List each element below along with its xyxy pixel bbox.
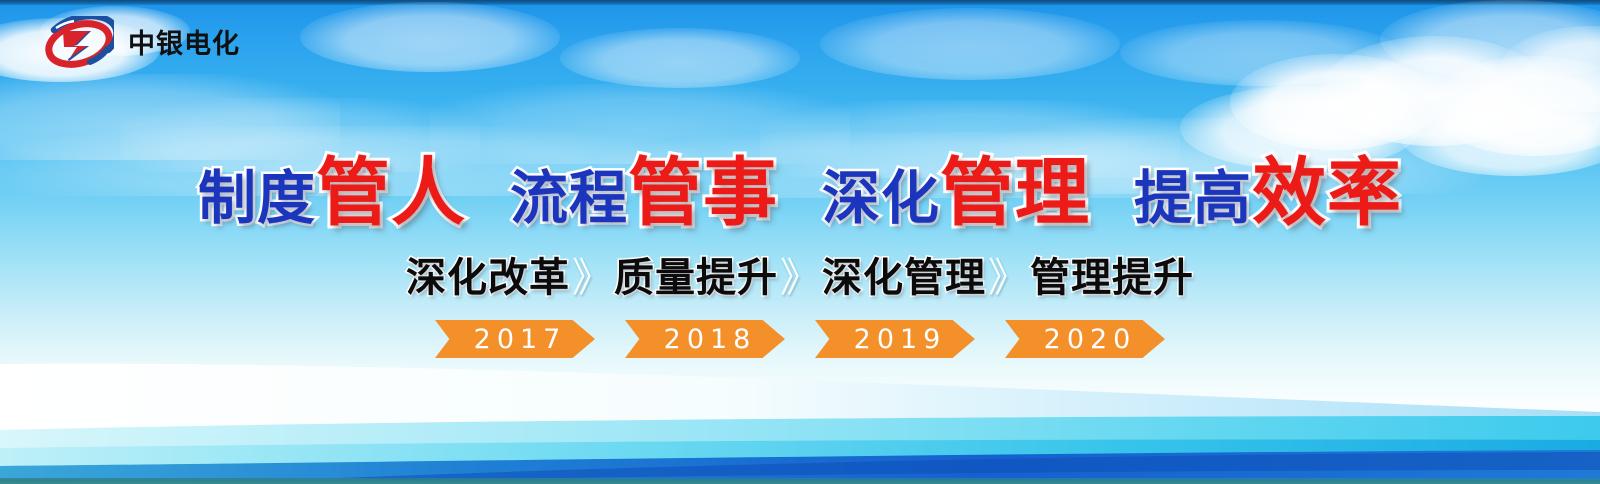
subtitle-item-1: 深化改革 <box>406 255 570 301</box>
headline-blue-3: 深化 <box>822 164 940 232</box>
headline-group-1: 制度管人 <box>198 156 466 230</box>
bottom-wave-graphic <box>0 354 1600 484</box>
chevron-separator-icon: 》 <box>988 255 1028 301</box>
year-label: 2017 <box>464 326 567 353</box>
headline-blue-4: 提高 <box>1134 164 1252 232</box>
headline-group-2: 流程管事 <box>510 156 778 230</box>
year-label: 2018 <box>654 326 757 353</box>
headline-red-3: 管理 <box>940 150 1090 236</box>
headline: 制度管人 流程管事 深化管理 提高效率 <box>0 156 1600 230</box>
headline-red-2: 管事 <box>628 150 778 236</box>
promotional-banner: 中银电化 制度管人 流程管事 深化管理 提高效率 深化改革》质量提升》深化管理》… <box>0 0 1600 484</box>
year-arrow-2019: 2019 <box>815 320 975 358</box>
subtitle-row: 深化改革》质量提升》深化管理》管理提升 <box>0 258 1600 298</box>
bottom-edge-line <box>0 480 1600 484</box>
subtitle-item-3: 深化管理 <box>822 255 986 301</box>
year-arrow-2018: 2018 <box>625 320 785 358</box>
chevron-separator-icon: 》 <box>780 255 820 301</box>
headline-group-3: 深化管理 <box>822 156 1090 230</box>
subtitle-item-4: 管理提升 <box>1030 255 1194 301</box>
headline-blue-1: 制度 <box>198 164 316 232</box>
top-edge-line <box>0 0 1600 5</box>
subtitle-item-2: 质量提升 <box>614 255 778 301</box>
company-name: 中银电化 <box>128 31 240 58</box>
year-arrow-2020: 2020 <box>1005 320 1165 358</box>
chevron-separator-icon: 》 <box>572 255 612 301</box>
company-logo: 中银电化 <box>44 16 240 72</box>
timeline-years: 2017 2018 2019 2020 <box>0 320 1600 358</box>
year-arrow-2017: 2017 <box>435 320 595 358</box>
zhongyin-dianhua-logo-icon <box>44 16 114 72</box>
year-label: 2019 <box>844 326 947 353</box>
headline-group-4: 提高效率 <box>1134 156 1402 230</box>
headline-blue-2: 流程 <box>510 164 628 232</box>
year-label: 2020 <box>1034 326 1137 353</box>
headline-red-4: 效率 <box>1252 150 1402 236</box>
headline-red-1: 管人 <box>316 150 466 236</box>
